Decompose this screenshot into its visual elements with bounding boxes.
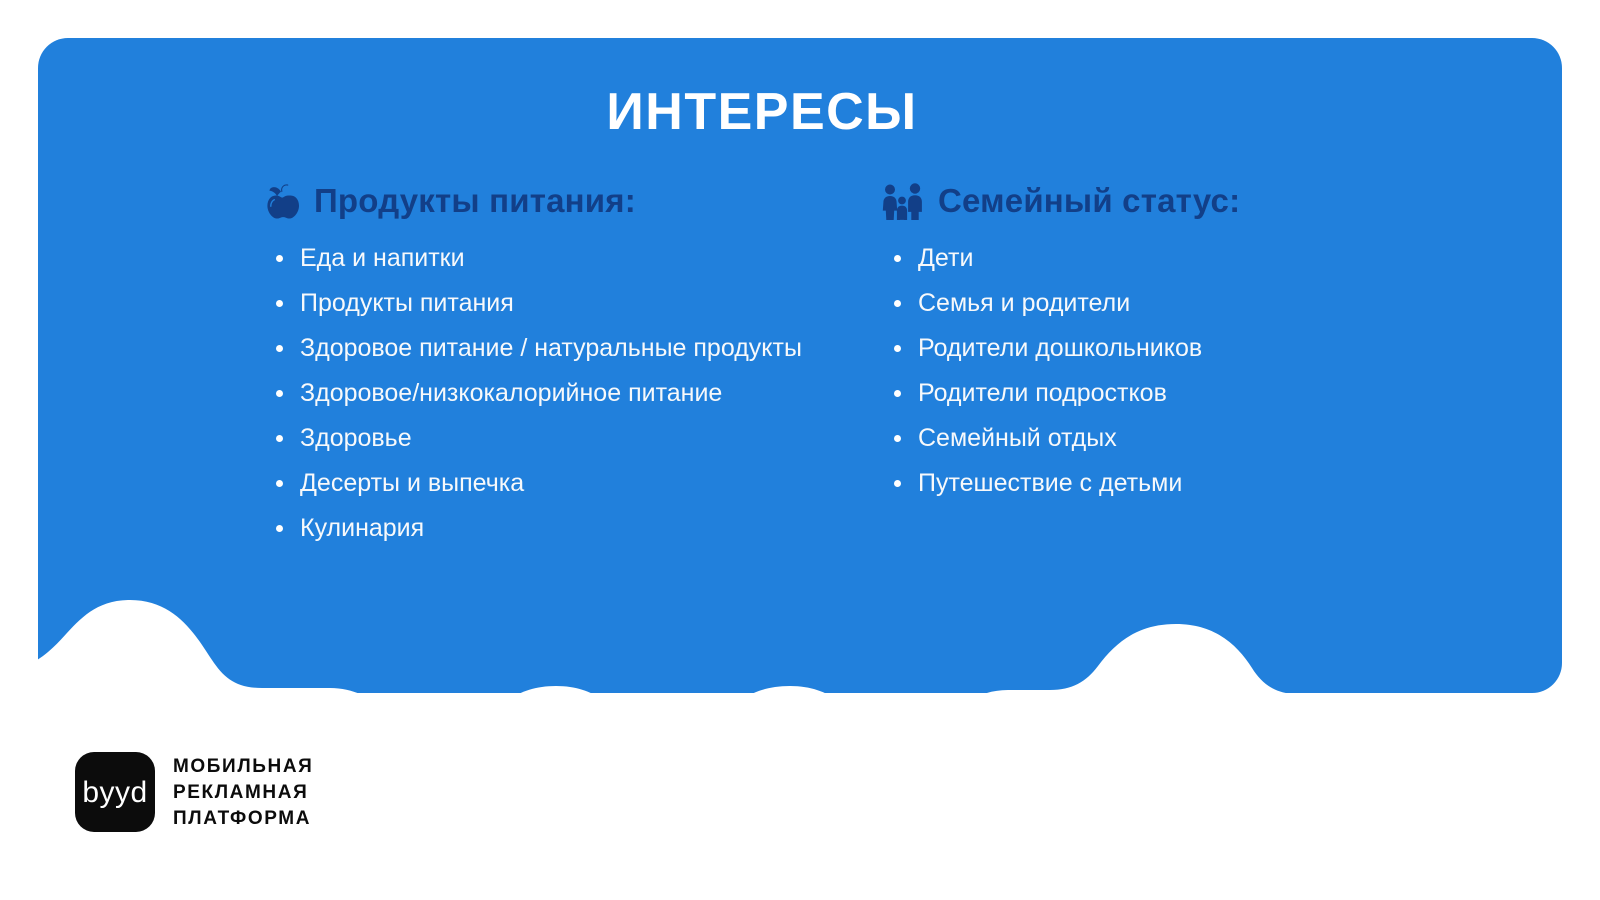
column-family-status: Семейный статус: Дети Семья и родители Р…	[880, 182, 1400, 516]
interest-list-family: Дети Семья и родители Родители дошкольни…	[880, 246, 1400, 496]
column-header-food: Продукты питания:	[262, 182, 862, 220]
list-item: Родители подростков	[880, 381, 1400, 406]
interest-list-food: Еда и напитки Продукты питания Здоровое …	[262, 246, 862, 541]
list-item: Кулинария	[262, 516, 862, 541]
column-header-food-label: Продукты питания:	[314, 182, 636, 220]
list-item: Здоровое питание / натуральные продукты	[262, 336, 862, 361]
byyd-logo-text: byyd	[82, 778, 147, 808]
list-item: Здоровое/низкокалорийное питание	[262, 381, 862, 406]
column-header-family-label: Семейный статус:	[938, 182, 1240, 220]
list-item: Десерты и выпечка	[262, 471, 862, 496]
tagline-line: ПЛАТФОРМА	[173, 809, 313, 828]
list-item: Еда и напитки	[262, 246, 862, 271]
tagline-line: МОБИЛЬНАЯ	[173, 757, 313, 776]
list-item: Продукты питания	[262, 291, 862, 316]
brand-tagline: МОБИЛЬНАЯ РЕКЛАМНАЯ ПЛАТФОРМА	[173, 757, 313, 828]
brand-logo: byyd МОБИЛЬНАЯ РЕКЛАМНАЯ ПЛАТФОРМА	[75, 752, 313, 832]
list-item: Дети	[880, 246, 1400, 271]
list-item: Здоровье	[262, 426, 862, 451]
list-item: Родители дошкольников	[880, 336, 1400, 361]
list-item: Семейный отдых	[880, 426, 1400, 451]
page-title: ИНТЕРЕСЫ	[0, 86, 1524, 138]
slide-canvas: ИНТЕРЕСЫ Продукты питания: Еда и напитки…	[0, 0, 1600, 900]
tagline-line: РЕКЛАМНАЯ	[173, 783, 313, 802]
list-item: Семья и родители	[880, 291, 1400, 316]
list-item: Путешествие с детьми	[880, 471, 1400, 496]
column-header-family: Семейный статус:	[880, 182, 1400, 220]
byyd-logo-mark: byyd	[75, 752, 155, 832]
apple-icon	[262, 182, 300, 220]
column-food-interests: Продукты питания: Еда и напитки Продукты…	[262, 182, 862, 561]
family-icon	[880, 182, 924, 220]
